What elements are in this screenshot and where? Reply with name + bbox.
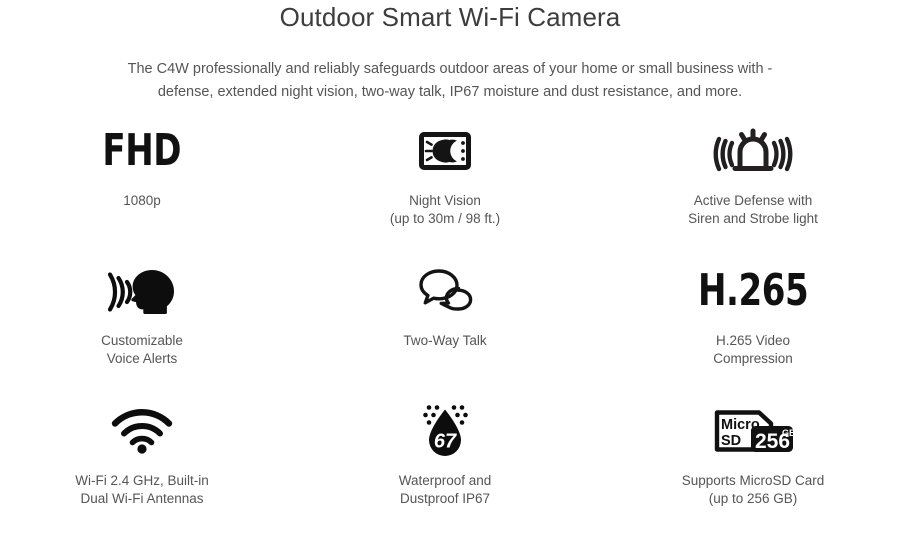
page-subtitle: The C4W professionally and reliably safe… <box>100 58 800 104</box>
feature-row: Customizable Voice Alerts Two-Way Talk <box>0 262 900 402</box>
feature-caption: Wi-Fi 2.4 GHz, Built-in Dual Wi-Fi Anten… <box>75 472 209 508</box>
feature-item-waterproof: 67 Waterproof and Dustproof IP67 <box>295 402 595 542</box>
droplet-rating-text: 67 <box>434 431 457 453</box>
feature-item-wifi: Wi-Fi 2.4 GHz, Built-in Dual Wi-Fi Anten… <box>0 402 292 542</box>
two-way-talk-bubbles-icon <box>417 262 473 320</box>
fhd-wordmark-text: FHD <box>103 129 182 173</box>
feature-caption: Night Vision (up to 30m / 98 ft.) <box>390 192 500 228</box>
product-feature-page: Outdoor Smart Wi-Fi Camera The C4W profe… <box>0 0 900 530</box>
feature-row: FHD 1080p <box>0 122 900 262</box>
page-title: Outdoor Smart Wi-Fi Camera <box>0 2 900 32</box>
microsd-card-icon: Micro SD 256 GB <box>711 402 795 460</box>
feature-item-night-vision: Night Vision (up to 30m / 98 ft.) <box>295 122 595 262</box>
waterproof-droplet-icon: 67 <box>416 402 474 460</box>
sd-unit-text: GB <box>782 428 795 438</box>
h265-wordmark-text: H.265 <box>698 269 808 313</box>
feature-item-two-way-talk: Two-Way Talk <box>295 262 595 402</box>
feature-caption: Two-Way Talk <box>403 332 486 350</box>
feature-caption: H.265 Video Compression <box>713 332 793 368</box>
feature-caption: Active Defense with Siren and Strobe lig… <box>688 192 818 228</box>
voice-alert-head-icon <box>105 262 179 320</box>
fhd-wordmark-icon: FHD <box>96 122 188 180</box>
feature-item-h265: H.265 H.265 Video Compression <box>603 262 900 402</box>
feature-item-fhd: FHD 1080p <box>0 122 292 262</box>
feature-caption: Waterproof and Dustproof IP67 <box>399 472 492 508</box>
feature-caption: Customizable Voice Alerts <box>101 332 183 368</box>
siren-strobe-icon <box>713 122 793 180</box>
feature-item-voice-alerts: Customizable Voice Alerts <box>0 262 292 402</box>
feature-caption: Supports MicroSD Card (up to 256 GB) <box>682 472 825 508</box>
feature-item-microsd: Micro SD 256 GB Supports MicroSD Card (u… <box>603 402 900 542</box>
feature-caption: 1080p <box>123 192 161 210</box>
wifi-signal-icon <box>110 402 174 460</box>
h265-wordmark-icon: H.265 <box>689 262 817 320</box>
sd-label-line2: SD <box>721 433 741 449</box>
night-vision-icon <box>417 122 473 180</box>
page-header: Outdoor Smart Wi-Fi Camera The C4W profe… <box>0 0 900 104</box>
feature-grid: FHD 1080p <box>0 122 900 542</box>
feature-item-active-defense: Active Defense with Siren and Strobe lig… <box>603 122 900 262</box>
feature-row: Wi-Fi 2.4 GHz, Built-in Dual Wi-Fi Anten… <box>0 402 900 542</box>
